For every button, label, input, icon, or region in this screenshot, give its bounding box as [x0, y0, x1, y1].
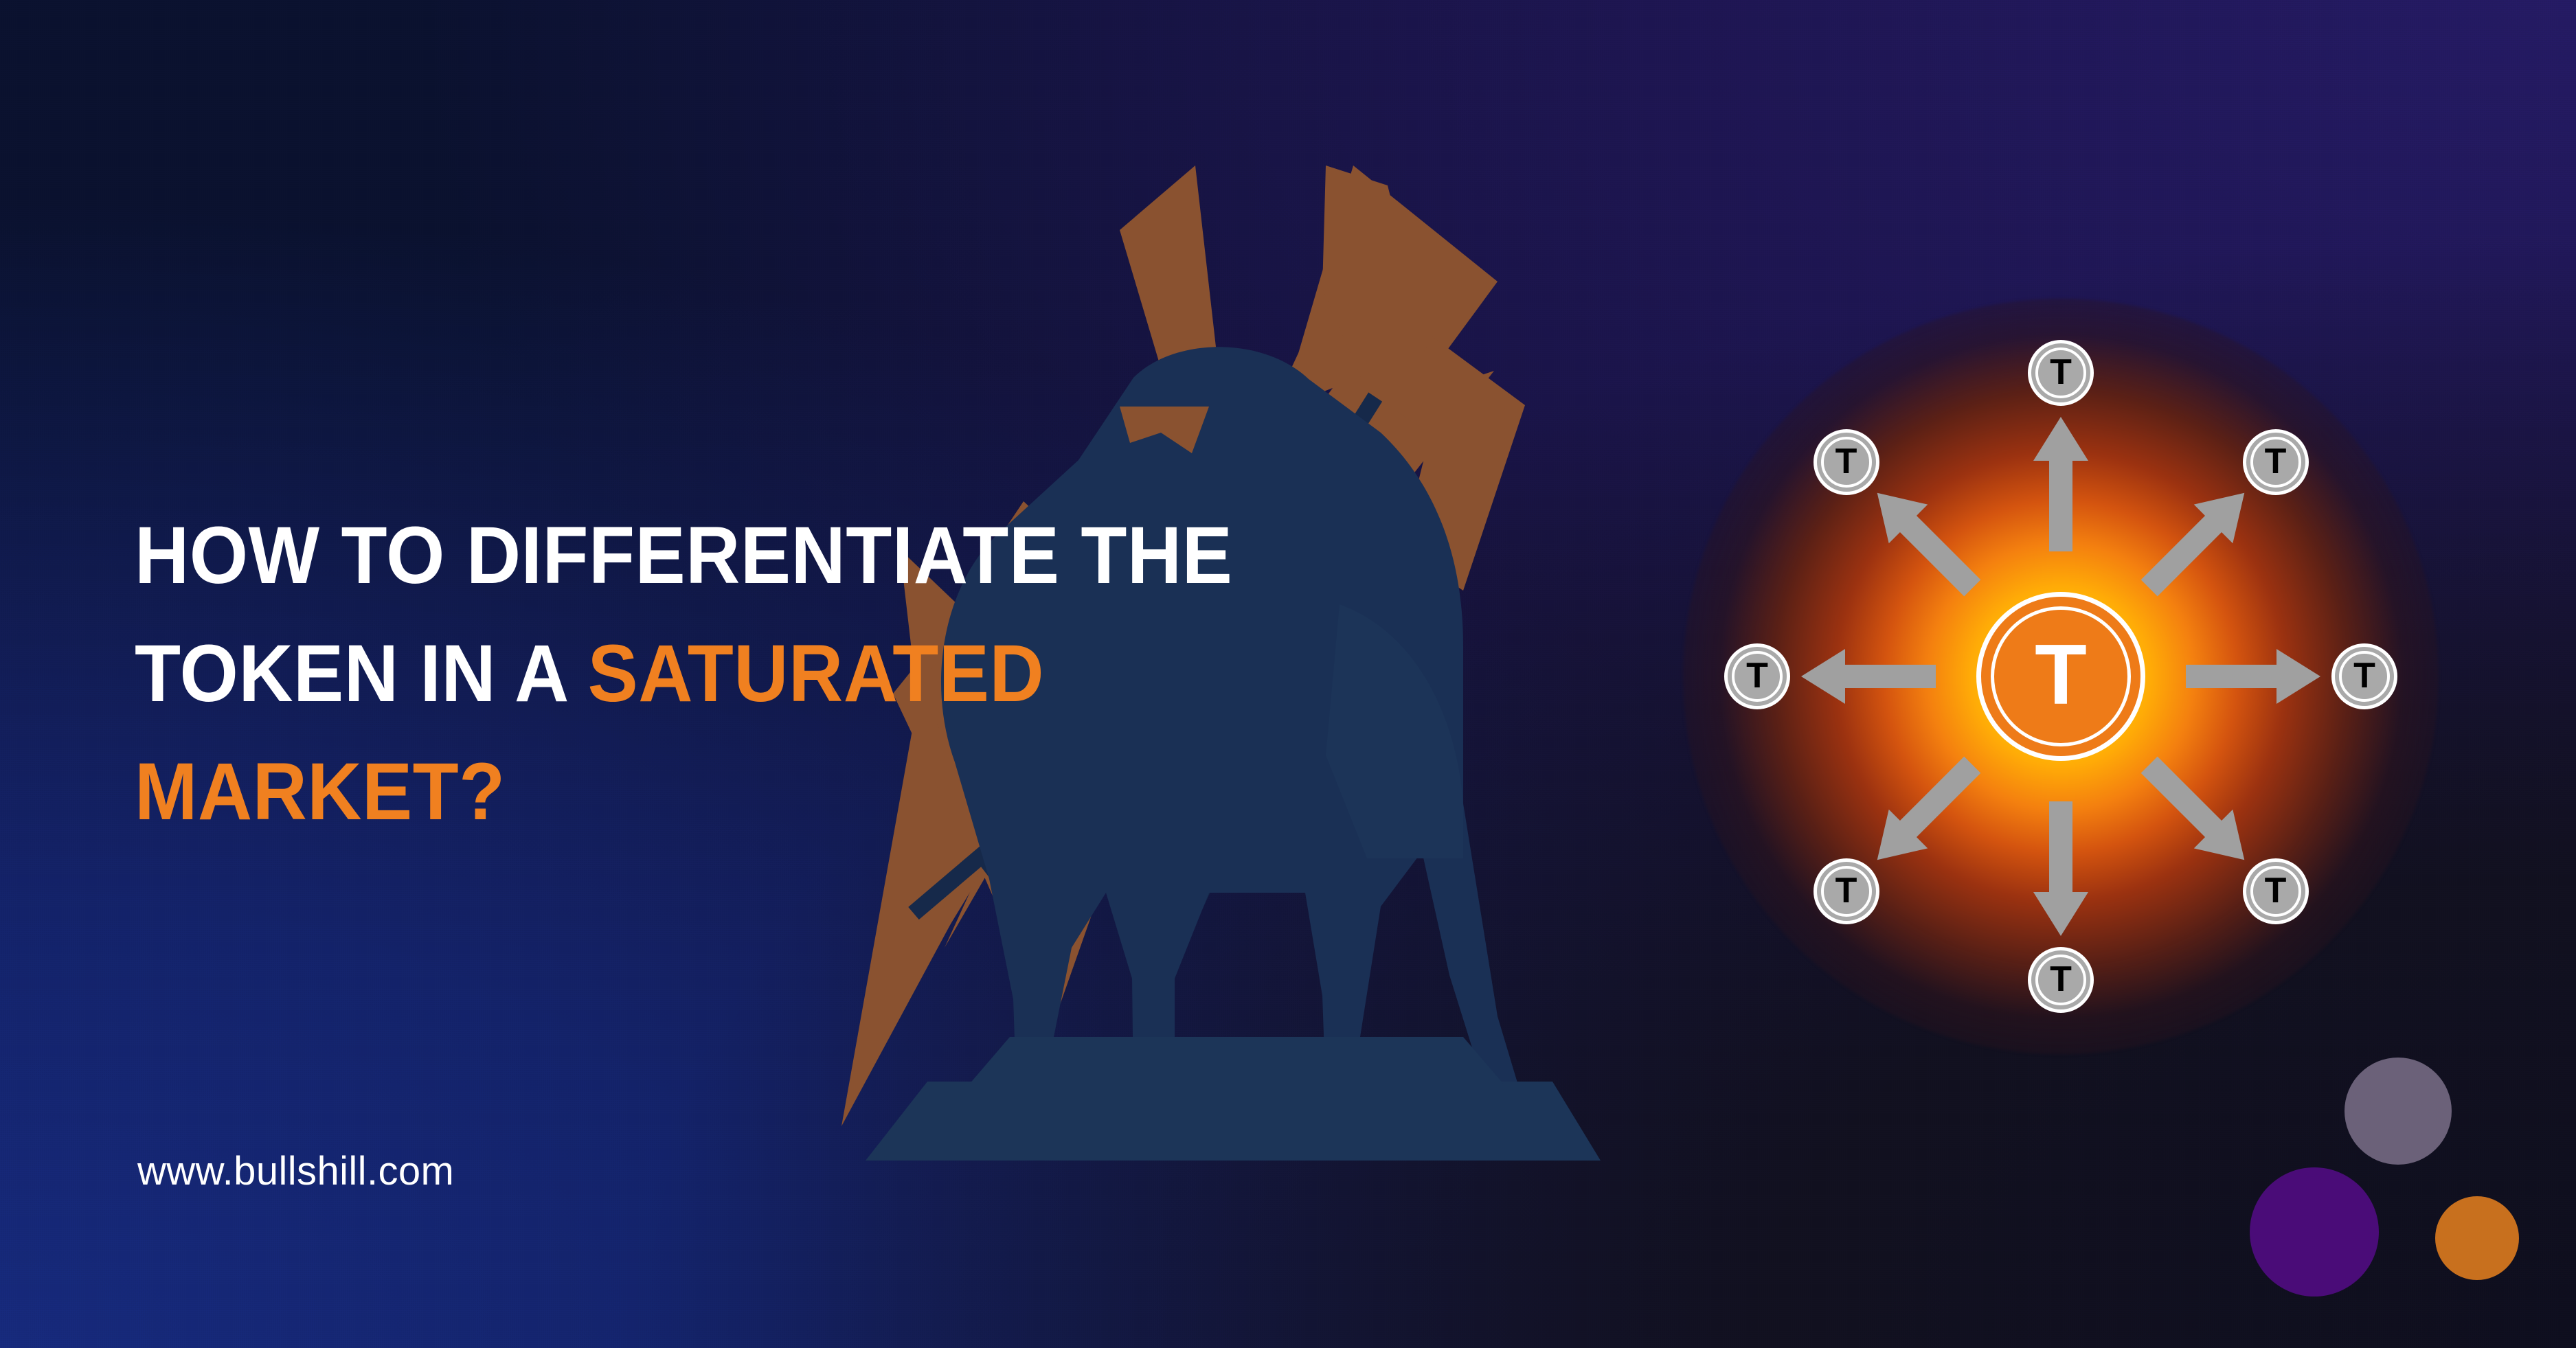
- satellite-letter-right: T: [2353, 658, 2375, 694]
- arrow-from-left: [2186, 649, 2320, 704]
- decor-purple-circle: [2250, 1167, 2379, 1296]
- satellite-letter-bottom: T: [2050, 961, 2072, 997]
- decor-orange-circle: [2435, 1196, 2519, 1280]
- satellite-token-top-left[interactable]: T: [1814, 429, 1879, 495]
- banner-canvas: HOW TO DIFFERENTIATE THE TOKEN IN A SATU…: [0, 0, 2576, 1348]
- headline-line-3-accent: MARKET?: [135, 746, 506, 837]
- headline-line-3: MARKET?: [135, 733, 1221, 851]
- arrow-from-bottom: [2033, 417, 2088, 551]
- arrow-from-top-left: [2129, 745, 2263, 879]
- satellite-token-bottom-right[interactable]: T: [2243, 858, 2309, 924]
- satellite-letter-bottom-right: T: [2265, 873, 2287, 909]
- satellite-token-bottom-left[interactable]: T: [1814, 858, 1879, 924]
- satellite-letter-bottom-left: T: [1835, 873, 1857, 909]
- satellite-token-top[interactable]: T: [2028, 340, 2094, 406]
- satellite-token-right[interactable]: T: [2331, 643, 2397, 709]
- arrow-from-top: [2033, 801, 2088, 936]
- arrow-from-top-right: [1857, 745, 1991, 879]
- headline: HOW TO DIFFERENTIATE THE TOKEN IN A SATU…: [135, 496, 1302, 851]
- satellite-letter-top-left: T: [1835, 444, 1857, 479]
- satellite-letter-top: T: [2050, 354, 2072, 390]
- headline-line-1-text: HOW TO DIFFERENTIATE THE: [135, 510, 1232, 601]
- satellite-letter-top-right: T: [2265, 444, 2287, 479]
- central-token[interactable]: T: [1976, 592, 2145, 761]
- site-url[interactable]: www.bullshill.com: [137, 1148, 454, 1194]
- satellite-token-bottom[interactable]: T: [2028, 947, 2094, 1013]
- satellite-letter-left: T: [1746, 658, 1768, 694]
- headline-line-1: HOW TO DIFFERENTIATE THE: [135, 496, 1221, 615]
- token-network-diagram: T T T T T T T T: [1628, 244, 2494, 1109]
- satellite-token-left[interactable]: T: [1724, 643, 1790, 709]
- satellite-token-top-right[interactable]: T: [2243, 429, 2309, 495]
- central-token-letter: T: [2035, 632, 2087, 718]
- headline-line-2-accent: SATURATED: [588, 628, 1045, 719]
- arrow-from-bottom-right: [1857, 473, 1991, 607]
- arrow-from-right: [1801, 649, 1936, 704]
- headline-line-2-white: TOKEN IN A: [135, 628, 588, 719]
- headline-line-2: TOKEN IN A SATURATED: [135, 615, 1221, 733]
- arrow-from-bottom-left: [2129, 473, 2263, 607]
- decor-gray-circle: [2345, 1058, 2452, 1165]
- bull-ground-base: [866, 1082, 1601, 1161]
